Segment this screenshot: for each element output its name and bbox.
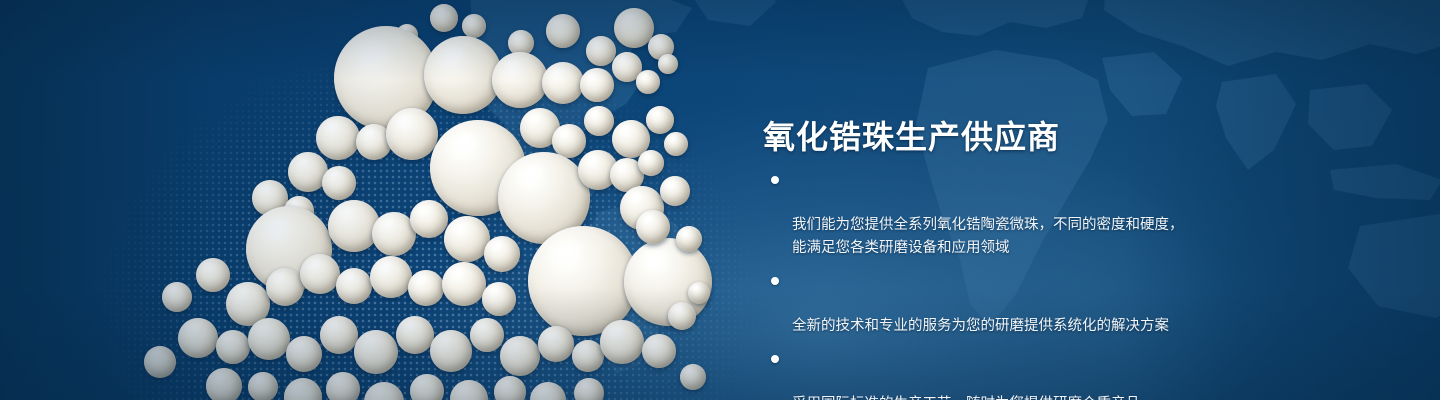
list-item: 采用国际标准的生产工艺，随时为您提供研磨介质产品	[765, 347, 1184, 400]
bullet-dot-icon	[771, 355, 779, 363]
list-item-label: 全新的技术和专业的服务为您的研磨提供系统化的解决方案	[792, 318, 1169, 334]
feature-list: 我们能为您提供全系列氧化锆陶瓷微珠，不同的密度和硬度， 能满足您各类研磨设备和应…	[765, 168, 1184, 400]
list-item-label: 采用国际标准的生产工艺，随时为您提供研磨介质产品	[792, 396, 1140, 400]
bullet-dot-icon	[771, 176, 779, 184]
page-title: 氧化锆珠生产供应商	[763, 112, 1060, 158]
bullet-dot-icon	[771, 277, 779, 285]
list-item: 我们能为您提供全系列氧化锆陶瓷微珠，不同的密度和硬度， 能满足您各类研磨设备和应…	[765, 168, 1184, 260]
hero-banner: 氧化锆珠生产供应商 我们能为您提供全系列氧化锆陶瓷微珠，不同的密度和硬度， 能满…	[0, 0, 1440, 400]
banner-content: 氧化锆珠生产供应商 我们能为您提供全系列氧化锆陶瓷微珠，不同的密度和硬度， 能满…	[763, 0, 1383, 400]
list-item-label: 我们能为您提供全系列氧化锆陶瓷微珠，不同的密度和硬度， 能满足您各类研磨设备和应…	[792, 217, 1184, 256]
list-item: 全新的技术和专业的服务为您的研磨提供系统化的解决方案	[765, 269, 1184, 338]
